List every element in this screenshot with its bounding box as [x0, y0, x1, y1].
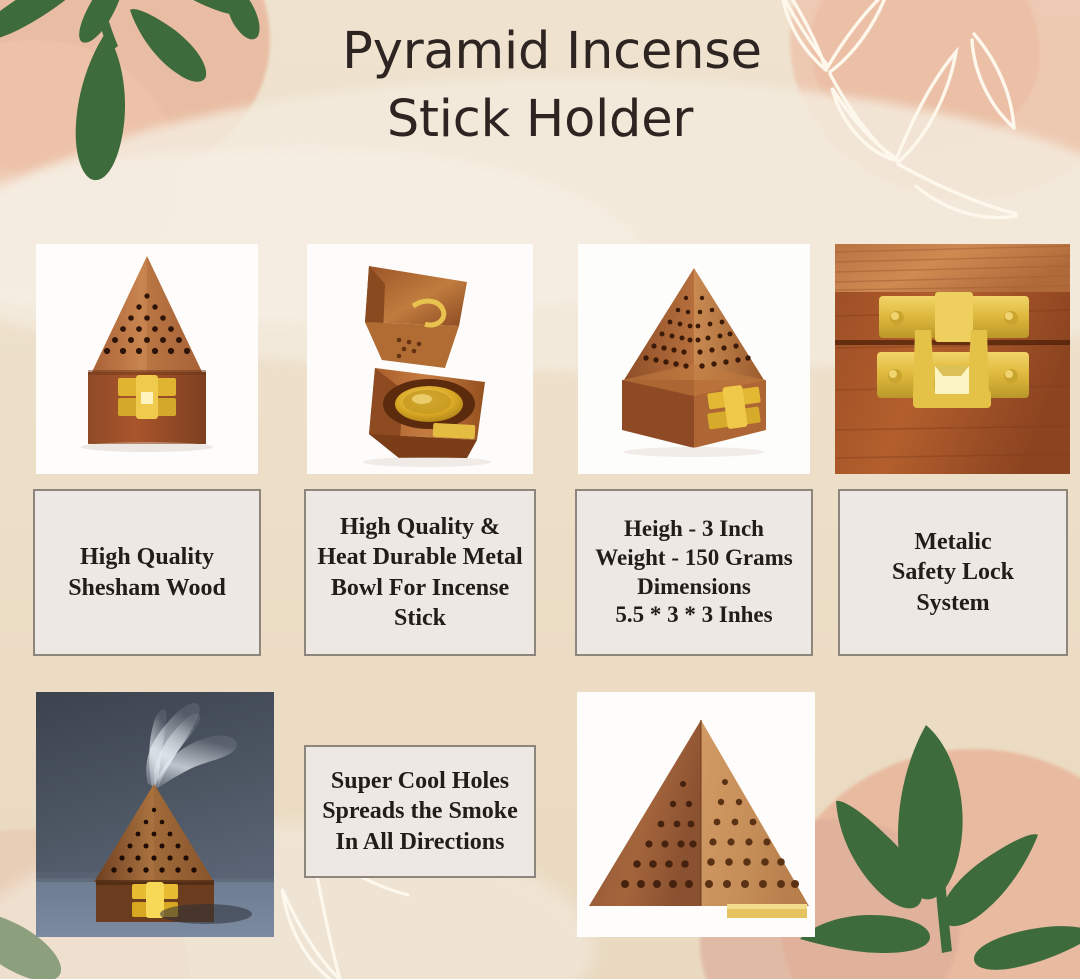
feature-photo-2 — [307, 244, 533, 474]
tall-pyramid-holder-image — [578, 244, 810, 474]
feature-photo-5 — [36, 692, 274, 937]
title-line-2: Stick Holder — [0, 86, 1080, 154]
feature-photo-1 — [36, 244, 258, 474]
brass-plate-upper — [879, 292, 1029, 342]
large-pyramid-two-tone-image — [577, 692, 815, 937]
feature-caption-4: Metalic Safety Lock System — [838, 489, 1068, 656]
caption-text-5: Super Cool Holes Spreads the Smoke In Al… — [322, 766, 518, 857]
poster-title: Pyramid Incense Stick Holder — [0, 18, 1080, 155]
title-line-1: Pyramid Incense — [24, 18, 1080, 86]
feature-photo-4 — [835, 244, 1070, 474]
feature-caption-1: High Quality Shesham Wood — [33, 489, 261, 656]
caption-text-1: High Quality Shesham Wood — [68, 542, 226, 602]
feature-caption-2: High Quality & Heat Durable Metal Bowl F… — [304, 489, 536, 656]
feature-photo-3 — [578, 244, 810, 474]
caption-text-2: High Quality & Heat Durable Metal Bowl F… — [317, 512, 522, 633]
caption-text-3: Heigh - 3 Inch Weight - 150 Grams Dimens… — [595, 515, 792, 631]
feature-photo-6 — [577, 692, 815, 937]
brass-safety-lock-closeup-image — [835, 244, 1070, 474]
open-box-brass-bowl-image — [307, 244, 533, 474]
caption-text-4: Metalic Safety Lock System — [892, 527, 1014, 618]
smoking-pyramid-image — [36, 692, 274, 937]
feature-caption-5: Super Cool Holes Spreads the Smoke In Al… — [304, 745, 536, 878]
feature-caption-3: Heigh - 3 Inch Weight - 150 Grams Dimens… — [575, 489, 813, 656]
closed-pyramid-box-image — [36, 244, 258, 474]
product-infographic-poster: Pyramid Incense Stick Holder — [0, 0, 1080, 979]
